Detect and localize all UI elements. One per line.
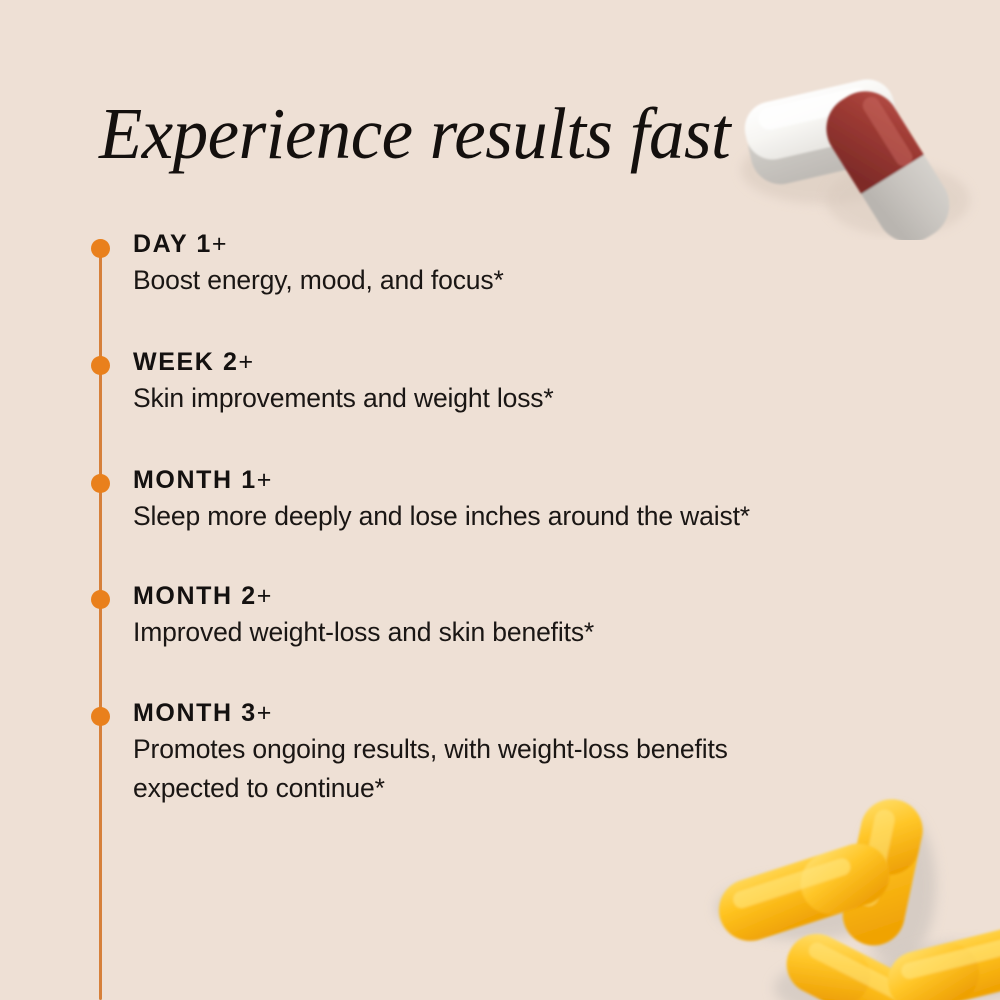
timeline-item-month-2: MONTH 2+ Improved weight-loss and skin b… (133, 584, 594, 652)
timeline-heading-suffix: + (257, 699, 272, 727)
bottom-capsule-illustration (690, 780, 1000, 1000)
timeline-heading-suffix: + (212, 230, 227, 258)
timeline-dot-week-2 (91, 356, 110, 375)
timeline-heading-day-1: DAY 1+ (133, 232, 504, 257)
timeline-heading-suffix: + (238, 348, 253, 376)
timeline-heading-month-1: MONTH 1+ (133, 468, 750, 493)
timeline-dot-month-3 (91, 707, 110, 726)
timeline-heading-week-2: WEEK 2+ (133, 350, 554, 375)
timeline-heading-suffix: + (257, 582, 272, 610)
timeline-body-month-2: Improved weight-loss and skin benefits* (133, 613, 594, 652)
timeline-body-month-1: Sleep more deeply and lose inches around… (133, 497, 750, 536)
promo-graphic: Experience results fast (0, 0, 1000, 1000)
timeline-heading-month-3: MONTH 3+ (133, 701, 728, 726)
timeline-heading-label: MONTH 3 (133, 699, 257, 727)
timeline-body-week-2: Skin improvements and weight loss* (133, 379, 554, 418)
timeline-item-day-1: DAY 1+ Boost energy, mood, and focus* (133, 232, 504, 300)
top-capsule-illustration (718, 50, 1000, 240)
timeline-heading-suffix: + (257, 466, 272, 494)
page-title: Experience results fast (99, 97, 730, 170)
timeline-heading-label: DAY 1 (133, 230, 212, 258)
timeline-heading-month-2: MONTH 2+ (133, 584, 594, 609)
timeline-item-week-2: WEEK 2+ Skin improvements and weight los… (133, 350, 554, 418)
timeline-heading-label: MONTH 2 (133, 582, 257, 610)
timeline-dot-day-1 (91, 239, 110, 258)
timeline-item-month-1: MONTH 1+ Sleep more deeply and lose inch… (133, 468, 750, 536)
timeline-dot-month-1 (91, 474, 110, 493)
timeline-dot-month-2 (91, 590, 110, 609)
timeline-body-day-1: Boost energy, mood, and focus* (133, 261, 504, 300)
timeline-heading-label: WEEK 2 (133, 348, 238, 376)
timeline-heading-label: MONTH 1 (133, 466, 257, 494)
timeline-item-month-3: MONTH 3+ Promotes ongoing results, with … (133, 701, 728, 808)
timeline-body-month-3: Promotes ongoing results, with weight-lo… (133, 730, 728, 808)
